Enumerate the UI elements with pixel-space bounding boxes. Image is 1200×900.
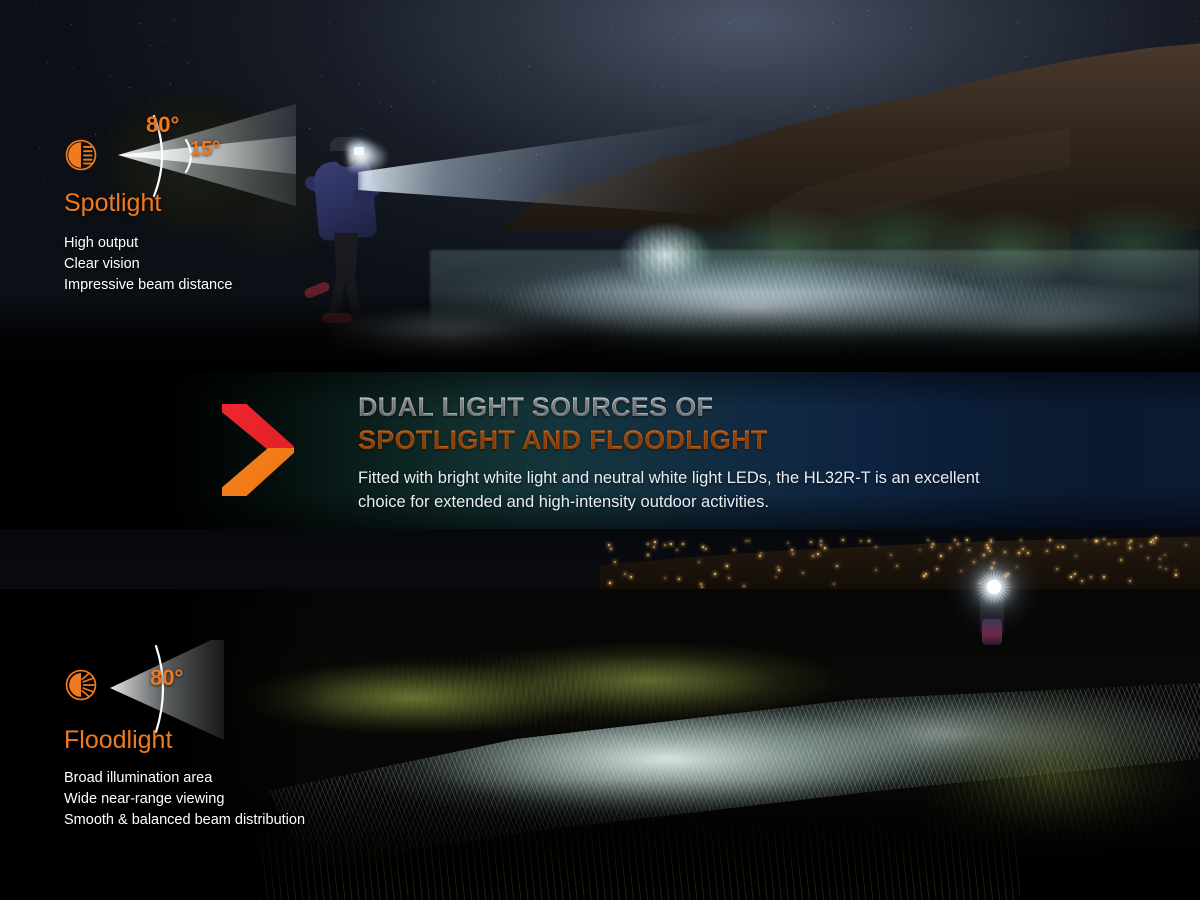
foreground-shadow	[0, 292, 1200, 372]
cyclist-figure	[966, 567, 1018, 655]
floodlight-feature-3: Smooth & balanced beam distribution	[64, 810, 305, 831]
headlamp-glow	[348, 132, 418, 182]
headlamp-spot-icon	[64, 138, 98, 172]
banner-subtext: Fitted with bright white light and neutr…	[358, 466, 1028, 515]
floodlight-title: Floodlight	[64, 726, 172, 755]
spotlight-outer-angle-label: 80°	[146, 112, 179, 138]
floodlight-feature-1: Broad illumination area	[64, 768, 305, 789]
chevron-bottom-half	[222, 448, 294, 496]
chevron-top-half	[222, 404, 294, 450]
banner-subtext-line1: Fitted with bright white light and neutr…	[358, 469, 910, 487]
floodlight-feature-2: Wide near-range viewing	[64, 789, 305, 810]
headlamp-flood-icon	[64, 668, 98, 702]
cyclist-backpack	[982, 619, 1002, 645]
banner-headline-line1: DUAL LIGHT SOURCES OF	[358, 392, 1058, 424]
spotlight-feature-2: Clear vision	[64, 254, 232, 275]
double-chevron-right-icon	[222, 404, 294, 496]
spotlight-feature-1: High output	[64, 233, 232, 254]
banner-headline-line2: SPOTLIGHT AND FLOODLIGHT	[358, 425, 1058, 457]
spotlight-title: Spotlight	[64, 189, 161, 218]
floodlight-angle-label: 80°	[150, 665, 183, 691]
floodlight-feature-list: Broad illumination area Wide near-range …	[64, 768, 305, 831]
spotlight-feature-3: Impressive beam distance	[64, 275, 232, 296]
spotlight-inner-angle-label: 15°	[190, 138, 220, 161]
headlamp-starburst	[974, 567, 1014, 607]
spotlight-feature-list: High output Clear vision Impressive beam…	[64, 233, 232, 296]
product-feature-banner: 80° 15° Spotlight High output Clear visi…	[0, 0, 1200, 900]
banner-text-block: DUAL LIGHT SOURCES OF SPOTLIGHT AND FLOO…	[358, 392, 1058, 515]
headlamp-core-light	[987, 580, 1001, 594]
